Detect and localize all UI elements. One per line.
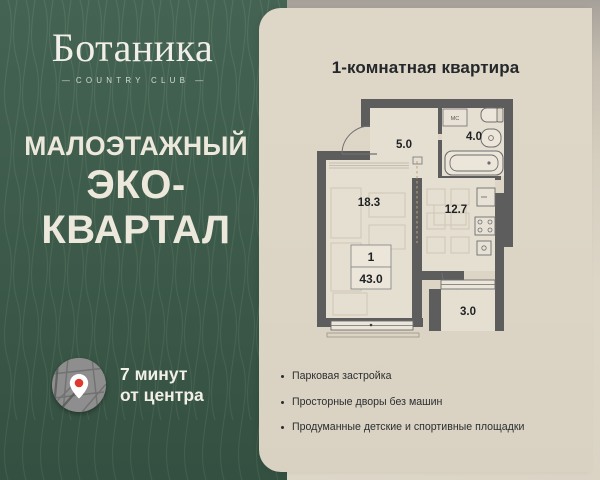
features-list: Парковая застройка Просторные дворы без … bbox=[281, 370, 591, 447]
headline-line-2: ЭКО- bbox=[0, 164, 272, 207]
brand-subtitle: —COUNTRY CLUB— bbox=[0, 76, 265, 85]
brand-name: Ботаника bbox=[0, 28, 265, 68]
brand-logo: Ботаника —COUNTRY CLUB— bbox=[0, 28, 265, 85]
area-bathroom: 4.0 bbox=[466, 131, 482, 143]
stove-icon bbox=[475, 217, 495, 235]
area-living-room: 18.3 bbox=[358, 197, 380, 209]
promo-headline: МАЛОЭТАЖНЫЙ ЭКО- КВАРТАЛ bbox=[0, 132, 272, 252]
room-count: 1 bbox=[368, 250, 375, 264]
total-area: 43.0 bbox=[359, 272, 383, 286]
plan-card: 1-комнатная квартира bbox=[259, 8, 592, 472]
toilet-icon bbox=[481, 108, 503, 122]
map-pin-icon bbox=[52, 358, 106, 412]
brand-subtitle-text: COUNTRY CLUB bbox=[76, 76, 189, 85]
area-balcony: 3.0 bbox=[460, 306, 476, 318]
dash-left: — bbox=[56, 76, 76, 85]
floorplan[interactable]: МС bbox=[309, 93, 559, 368]
area-kitchen: 12.7 bbox=[445, 204, 467, 216]
sink-icon bbox=[481, 129, 501, 147]
distance-badge-text: 7 минут от центра bbox=[120, 364, 204, 405]
dash-right: — bbox=[189, 76, 209, 85]
list-item: Просторные дворы без машин bbox=[281, 396, 591, 409]
washer-label: МС bbox=[451, 116, 460, 122]
list-item: Парковая застройка bbox=[281, 370, 591, 383]
distance-from-center: от центра bbox=[120, 385, 204, 406]
feature-text: Просторные дворы без машин bbox=[292, 396, 442, 409]
headline-line-1: МАЛОЭТАЖНЫЙ bbox=[0, 132, 272, 160]
total-area-badge: 1 43.0 bbox=[351, 245, 391, 289]
area-hallway: 5.0 bbox=[396, 139, 412, 151]
headline-line-3: КВАРТАЛ bbox=[0, 209, 272, 252]
bullet-icon bbox=[281, 426, 284, 429]
screenshot-root: ЦИАН № 305589442 bbox=[0, 0, 600, 480]
bathtub-icon bbox=[445, 151, 503, 175]
kitchen-sink-icon bbox=[477, 241, 491, 255]
entrance-door-swing bbox=[342, 126, 370, 154]
distance-minutes: 7 минут bbox=[120, 364, 204, 385]
feature-text: Парковая застройка bbox=[292, 370, 391, 383]
feature-text: Продуманные детские и спортивные площадк… bbox=[292, 421, 524, 434]
list-item: Продуманные детские и спортивные площадк… bbox=[281, 421, 591, 434]
promo-panel: Ботаника —COUNTRY CLUB— МАЛОЭТАЖНЫЙ ЭКО-… bbox=[0, 0, 287, 480]
bullet-icon bbox=[281, 401, 284, 404]
distance-badge: 7 минут от центра bbox=[52, 358, 204, 412]
page-title: 1-комнатная квартира bbox=[259, 58, 592, 78]
bullet-icon bbox=[281, 375, 284, 378]
map-thumbnail bbox=[52, 358, 106, 412]
